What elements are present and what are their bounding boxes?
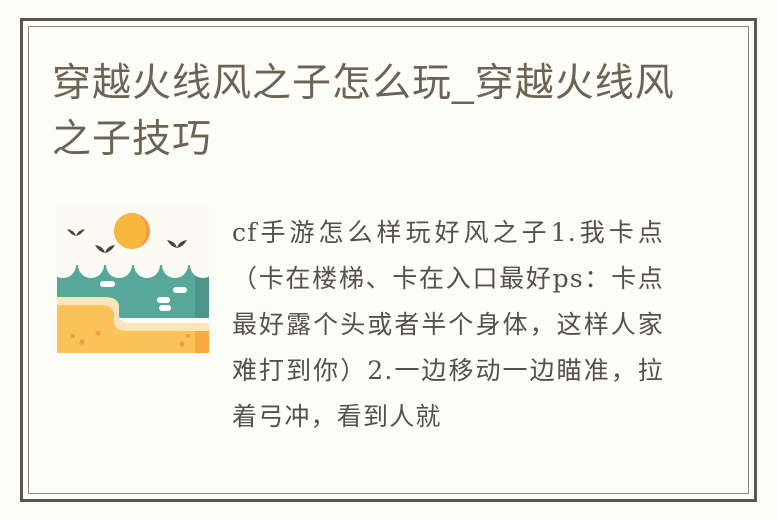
thumbnail-image <box>57 205 209 353</box>
sun-icon <box>114 213 150 249</box>
article-card-page: 穿越火线风之子怎么玩_穿越火线风之子技巧 <box>0 0 777 520</box>
article-body: cf手游怎么样玩好风之子1.我卡点（卡在楼梯、卡在入口最好ps：卡点最好露个头或… <box>232 210 664 460</box>
page-title: 穿越火线风之子怎么玩_穿越火线风之子技巧 <box>52 56 692 168</box>
